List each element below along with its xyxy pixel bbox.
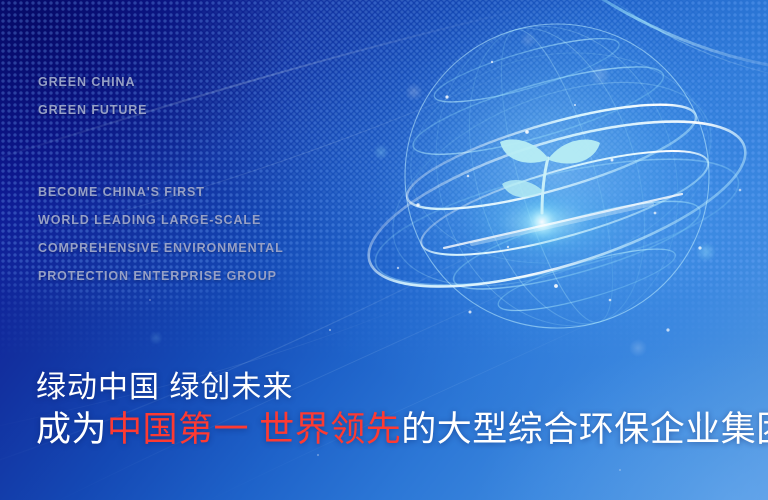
chinese-headline-line-1: 绿动中国 绿创未来 [36,368,768,408]
chinese-headline: 绿动中国 绿创未来 成为中国第一 世界领先的大型综合环保企业集团 [36,368,768,452]
chinese-headline-line-2: 成为中国第一 世界领先的大型综合环保企业集团 [36,408,768,452]
headline-suffix: 的大型综合环保企业集团 [401,410,768,449]
headline-prefix: 成为 [36,410,107,449]
hero-banner: GREEN CHINA GREEN FUTURE BECOME CHINA'S … [0,0,768,500]
headline-highlight: 中国第一 世界领先 [107,410,401,449]
mission-line-3: COMPREHENSIVE ENVIRONMENTAL [38,234,284,262]
mission-line-1: BECOME CHINA'S FIRST [38,178,284,206]
mission-line-4: PROTECTION ENTERPRISE GROUP [38,262,284,290]
wireframe-globe-icon [352,8,762,364]
sprout-seedling-icon [500,139,600,213]
tagline-line-2: GREEN FUTURE [38,96,147,124]
tagline-line-1: GREEN CHINA [38,68,147,96]
english-mission-statement: BECOME CHINA'S FIRST WORLD LEADING LARGE… [38,178,284,290]
mission-line-2: WORLD LEADING LARGE-SCALE [38,206,284,234]
english-tagline: GREEN CHINA GREEN FUTURE [38,68,147,124]
